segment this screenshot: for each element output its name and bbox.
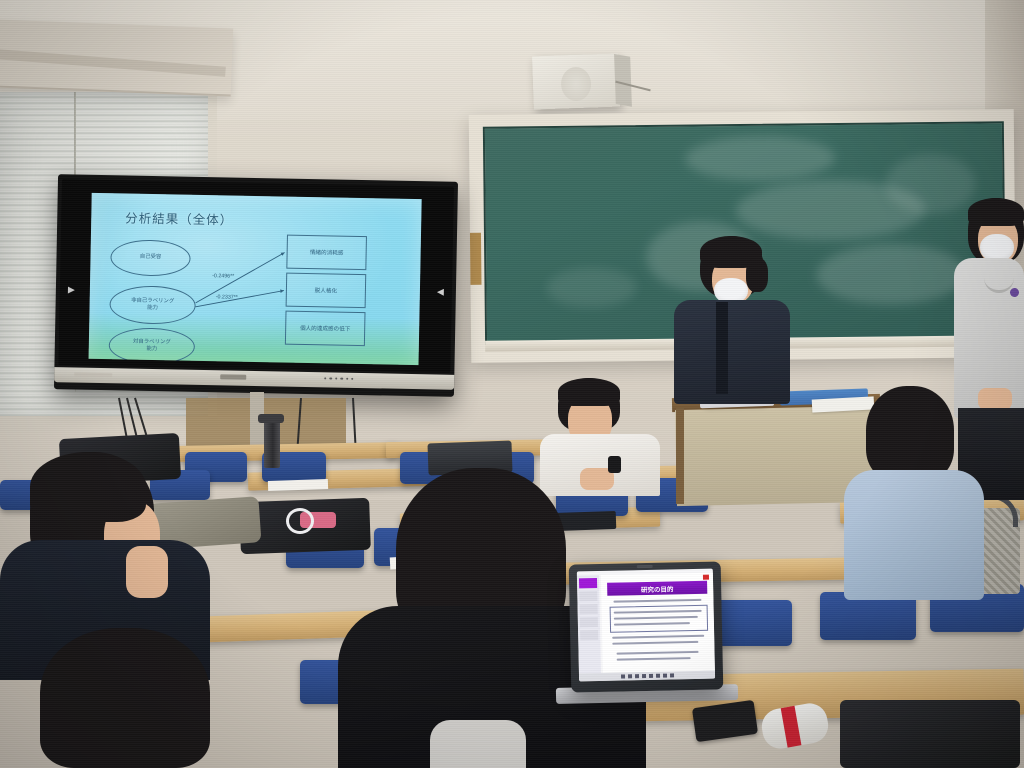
speaker-cone-icon <box>561 66 592 101</box>
hoodie-print <box>430 720 526 768</box>
charging-cable-loop <box>286 508 314 534</box>
display-right-arrow-icon[interactable]: ◀ <box>437 286 444 297</box>
standing-hands <box>978 388 1012 410</box>
thermos-bottle[interactable] <box>264 420 280 468</box>
laptop-webcam-bar <box>637 565 653 568</box>
wristwatch <box>608 456 621 473</box>
podium-leg <box>676 408 684 504</box>
slide-path-coefficient-1: -0.2496** <box>212 273 234 279</box>
blackboard-chalk-holder <box>470 233 482 285</box>
blue-sweater <box>844 470 984 600</box>
foreground-laptop-screen[interactable]: 研究の目的 <box>577 569 715 682</box>
interactive-display[interactable]: 分析結果（全体） 自己受容 非自己ラベリング 能力 対自ラベリング 能力 情緒的… <box>54 174 458 397</box>
hoodie-logo-icon <box>1010 288 1019 297</box>
display-screen[interactable]: 分析結果（全体） 自己受容 非自己ラベリング 能力 対自ラベリング 能力 情緒的… <box>89 193 422 365</box>
backpack-3[interactable] <box>840 700 1020 768</box>
foreground-laptop[interactable]: 研究の目的 <box>569 561 724 692</box>
left-student-hand <box>126 546 168 598</box>
slide-path-arrows <box>89 193 422 365</box>
thermos-cap <box>258 414 284 423</box>
slide-path-coefficient-2: -0.2337** <box>216 294 238 300</box>
presenter-jacket <box>674 300 790 404</box>
ppt-slide-canvas: 研究の目的 <box>601 573 715 673</box>
window-valance <box>0 19 233 96</box>
presenter-jacket-placket <box>716 302 728 394</box>
display-left-arrow-icon[interactable]: ▶ <box>68 284 75 295</box>
classroom-scene: 分析結果（全体） 自己受容 非自己ラベリング 能力 対自ラベリング 能力 情緒的… <box>0 0 1024 768</box>
paper-sheet-1 <box>268 479 328 491</box>
ppt-taskbar[interactable] <box>579 671 715 682</box>
ppt-slide-rail[interactable] <box>577 575 601 673</box>
smartphone[interactable] <box>692 700 758 742</box>
ppt-slide-banner: 研究の目的 <box>607 581 707 596</box>
wall-speaker <box>532 54 620 110</box>
